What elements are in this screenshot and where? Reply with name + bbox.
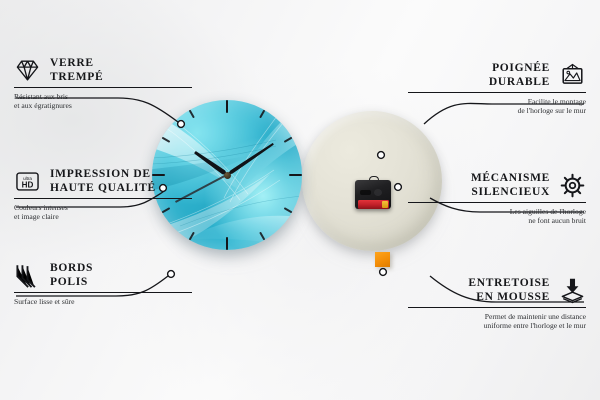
feature-title: ENTRETOISE EN MOUSSE (468, 277, 550, 304)
divider (408, 307, 586, 308)
battery-terminal (382, 201, 388, 208)
connector-dot-entretoise (380, 269, 387, 276)
feature-subtitle: Couleurs intenses et image claire (14, 203, 192, 222)
clock-center-cap (224, 172, 231, 179)
infographic-canvas: VERRE TREMPÉ Résistant aux bris et aux é… (0, 0, 600, 400)
clock-mechanism[interactable] (355, 176, 391, 209)
feature-subtitle: Résistant aux bris et aux égratignures (14, 92, 192, 111)
gear-icon (559, 172, 586, 199)
feature-bords-polis[interactable]: BORDS POLIS Surface lisse et sûre (14, 262, 192, 306)
feature-subtitle: Surface lisse et sûre (14, 297, 192, 307)
feature-title: IMPRESSION DE HAUTE QUALITÉ (50, 168, 156, 195)
diamond-icon (14, 57, 41, 84)
divider (408, 92, 586, 93)
feature-poignee-durable[interactable]: POIGNÉE DURABLE Facilite le montage de l… (408, 62, 586, 116)
wall-hanger-icon (559, 62, 586, 89)
mechanism-housing (355, 180, 391, 209)
mechanism-detail-dial (374, 189, 382, 196)
foam-spacer-icon (559, 277, 586, 304)
mechanism-detail-slot (360, 190, 371, 195)
clock-hour-hand (193, 150, 229, 177)
feature-subtitle: Facilite le montage de l'horloge sur le … (408, 97, 586, 116)
divider (14, 198, 192, 199)
feature-title: MÉCANISME SILENCIEUX (471, 172, 550, 199)
feature-title: POIGNÉE DURABLE (489, 62, 550, 89)
feature-title: BORDS POLIS (50, 262, 93, 289)
feature-verre-trempe[interactable]: VERRE TREMPÉ Résistant aux bris et aux é… (14, 57, 192, 111)
foam-spacer (375, 252, 390, 267)
battery (358, 200, 389, 209)
feature-title: VERRE TREMPÉ (50, 57, 103, 84)
feature-entretoise-en-mousse[interactable]: ENTRETOISE EN MOUSSE Permet de maintenir… (408, 277, 586, 331)
ultra-hd-icon: ultra HD (14, 168, 41, 195)
polished-edges-icon (14, 262, 41, 289)
feature-subtitle: Permet de maintenir une distance uniform… (408, 312, 586, 331)
feature-mecanisme-silencieux[interactable]: MÉCANISME SILENCIEUX Les aiguilles de l'… (408, 172, 586, 226)
svg-text:HD: HD (22, 180, 34, 189)
feature-impression-haute-qualite[interactable]: ultra HD IMPRESSION DE HAUTE QUALITÉ Cou… (14, 168, 192, 222)
divider (14, 292, 192, 293)
feature-subtitle: Les aiguilles de l'horloge ne font aucun… (408, 207, 586, 226)
divider (14, 87, 192, 88)
divider (408, 202, 586, 203)
clock-minute-hand (226, 142, 275, 177)
